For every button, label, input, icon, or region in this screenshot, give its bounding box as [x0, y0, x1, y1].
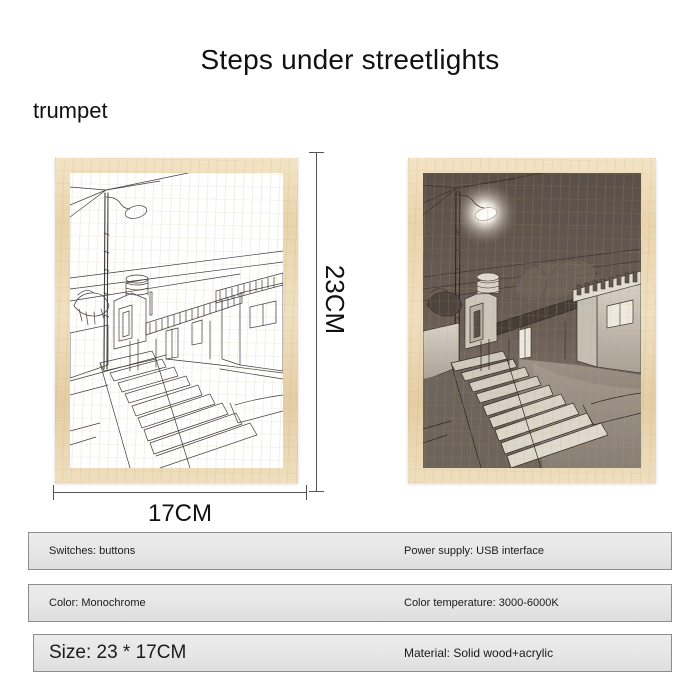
spec-row: Switches: buttons Power supply: USB inte…: [28, 532, 672, 570]
artwork-line-drawing: [70, 173, 283, 468]
frame-inner-left: [70, 173, 283, 468]
page-title: Steps under streetlights: [0, 44, 700, 76]
dimension-line-height: [316, 152, 317, 492]
spec-size: Size: 23 * 17CM: [49, 642, 186, 664]
dimension-tick-right: [306, 485, 307, 500]
dimension-height-label: 23CM: [319, 265, 350, 334]
dimension-tick-bottom: [309, 491, 324, 492]
page-subtitle: trumpet: [33, 98, 108, 124]
spec-color: Color: Monochrome: [49, 597, 146, 609]
dimension-tick-left: [53, 485, 54, 500]
product-spec-sheet: Steps under streetlights trumpet: [0, 0, 700, 700]
spec-switches: Switches: buttons: [49, 545, 135, 557]
frame-inner-right: [423, 173, 641, 468]
spec-power-supply: Power supply: USB interface: [404, 545, 544, 557]
spec-row: Color: Monochrome Color temperature: 300…: [28, 584, 672, 622]
dimension-tick-top: [309, 152, 324, 153]
spec-color-temperature: Color temperature: 3000-6000K: [404, 597, 559, 609]
dimension-line-width: [53, 492, 307, 493]
artwork-illuminated: [423, 173, 641, 468]
framed-artwork-lamp-on[interactable]: [408, 158, 656, 483]
spec-row: Size: 23 * 17CM Material: Solid wood+acr…: [33, 634, 672, 672]
framed-artwork-lamp-off[interactable]: [55, 158, 298, 483]
dimension-width-label: 17CM: [53, 500, 307, 528]
spec-material: Material: Solid wood+acrylic: [404, 646, 553, 660]
